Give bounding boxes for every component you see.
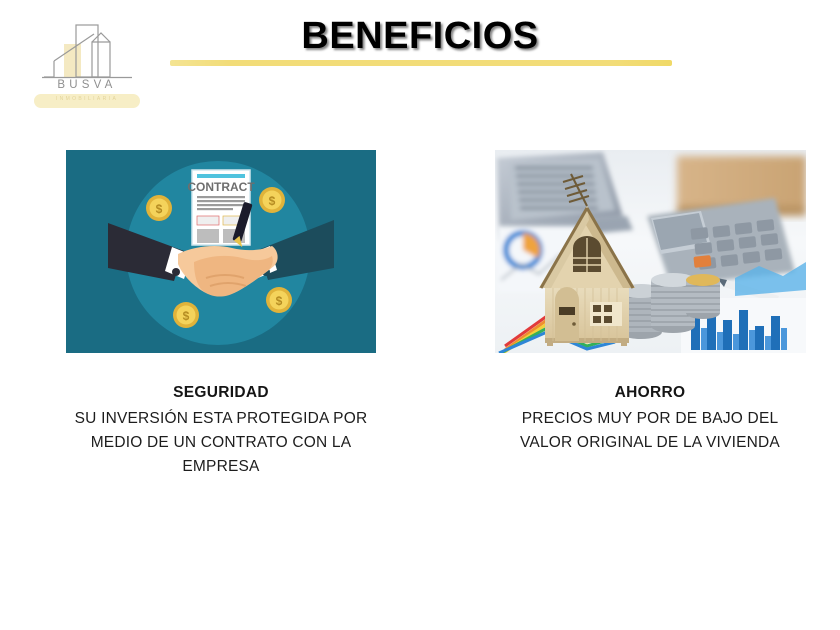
card-body: SU INVERSIÓN ESTA PROTEGIDA POR MEDIO DE…	[48, 407, 394, 479]
svg-text:$: $	[269, 194, 276, 208]
handshake-contract-illustration: CONTRACT	[66, 150, 376, 353]
house-model-savings-photo	[495, 150, 806, 353]
card-caption-seguridad: SEGURIDAD SU INVERSIÓN ESTA PROTEGIDA PO…	[66, 383, 376, 479]
title-underline-rule	[170, 60, 672, 66]
slide-header: BUSVA INMOBILIARIA BENEFICIOS	[0, 0, 840, 120]
svg-text:CONTRACT: CONTRACT	[187, 180, 255, 194]
card-heading: AHORRO	[495, 383, 805, 404]
svg-text:$: $	[183, 309, 190, 323]
house-door-icon	[555, 287, 579, 341]
svg-text:$: $	[276, 294, 283, 308]
brand-wordmark: BUSVA	[28, 79, 146, 91]
card-caption-ahorro: AHORRO PRECIOS MUY POR DE BAJO DEL VALOR…	[495, 383, 805, 455]
page-title: BENEFICIOS	[0, 15, 840, 58]
card-heading: SEGURIDAD	[66, 383, 376, 404]
house-window-icon	[590, 302, 622, 326]
brand-tagline-pill: INMOBILIARIA	[34, 94, 140, 108]
card-body: PRECIOS MUY POR DE BAJO DEL VALOR ORIGIN…	[485, 407, 815, 455]
attic-window-icon	[573, 236, 601, 272]
benefit-card-seguridad: CONTRACT	[66, 150, 376, 479]
coin-stack-right	[686, 274, 720, 319]
svg-text:$: $	[156, 202, 163, 216]
benefit-card-ahorro: AHORRO PRECIOS MUY POR DE BAJO DEL VALOR…	[495, 150, 805, 455]
brand-tagline: INMOBILIARIA	[34, 96, 140, 102]
house-model-savings-svg	[495, 150, 806, 353]
handshake-contract-svg: CONTRACT	[66, 150, 376, 353]
